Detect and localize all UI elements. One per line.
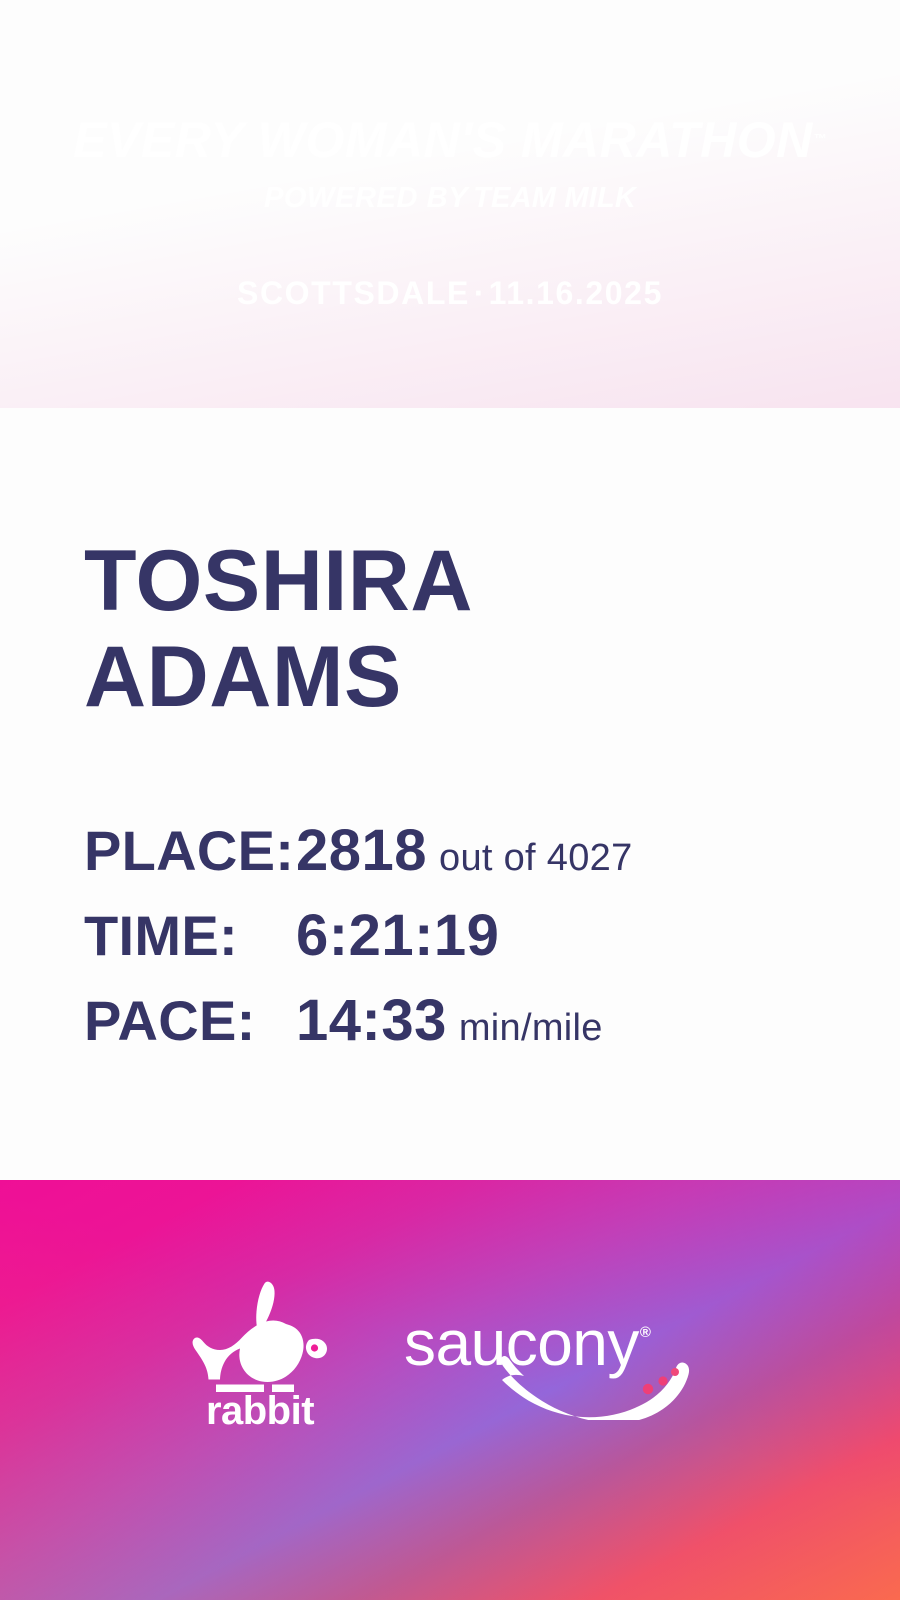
rabbit-icon: [190, 1280, 330, 1398]
stat-value-pace: 14:33: [296, 990, 447, 1052]
sponsor-footer-banner: rabbit saucony®: [0, 1180, 900, 1600]
saucony-swoosh-icon: [500, 1350, 696, 1420]
event-location-date: SCOTTSDALE·11.16.2025: [0, 275, 900, 311]
sponsor-logo-rabbit: rabbit: [186, 1280, 334, 1450]
event-date: 11.16.2025: [489, 275, 663, 311]
sponsor-logos: rabbit saucony®: [0, 1280, 900, 1460]
race-result-card: EVERY WOMAN'S MARATHON™ POWERED BYTEAM M…: [0, 0, 900, 1600]
stat-label-time: TIME:: [84, 905, 296, 967]
stat-label-place: PLACE:: [84, 820, 296, 882]
stat-suffix-pace: min/mile: [459, 997, 603, 1059]
stat-value-place: 2818: [296, 820, 427, 882]
stat-row-time: TIME:6:21:19: [84, 905, 844, 990]
event-title: EVERY WOMAN'S MARATHON™: [0, 113, 900, 166]
runner-name: TOSHIRA ADAMS: [84, 533, 473, 725]
runner-first-name: TOSHIRA: [84, 533, 473, 629]
event-city: SCOTTSDALE: [237, 275, 470, 311]
rabbit-wordmark: rabbit: [186, 1388, 334, 1434]
trademark-symbol: ™: [814, 131, 827, 146]
event-subtitle: POWERED BYTEAM MILK: [0, 182, 900, 214]
separator-dot: ·: [470, 275, 489, 311]
event-title-text: EVERY WOMAN'S MARATHON: [73, 112, 813, 168]
stat-suffix-place: out of 4027: [439, 827, 632, 889]
result-body: TOSHIRA ADAMS PLACE:2818out of 4027 TIME…: [0, 408, 900, 1180]
stat-value-time: 6:21:19: [296, 905, 499, 967]
registered-mark: ®: [640, 1324, 651, 1341]
sponsor-logo-saucony: saucony®: [404, 1298, 694, 1428]
stat-row-place: PLACE:2818out of 4027: [84, 820, 844, 905]
stats-list: PLACE:2818out of 4027 TIME:6:21:19 PACE:…: [84, 820, 844, 1075]
stat-label-pace: PACE:: [84, 990, 296, 1052]
event-header-banner: EVERY WOMAN'S MARATHON™ POWERED BYTEAM M…: [0, 0, 900, 408]
sponsor-brand-name: TEAM MILK: [473, 182, 636, 214]
powered-by-label: POWERED BY: [264, 182, 468, 214]
stat-row-pace: PACE:14:33min/mile: [84, 990, 844, 1075]
runner-last-name: ADAMS: [84, 629, 473, 725]
